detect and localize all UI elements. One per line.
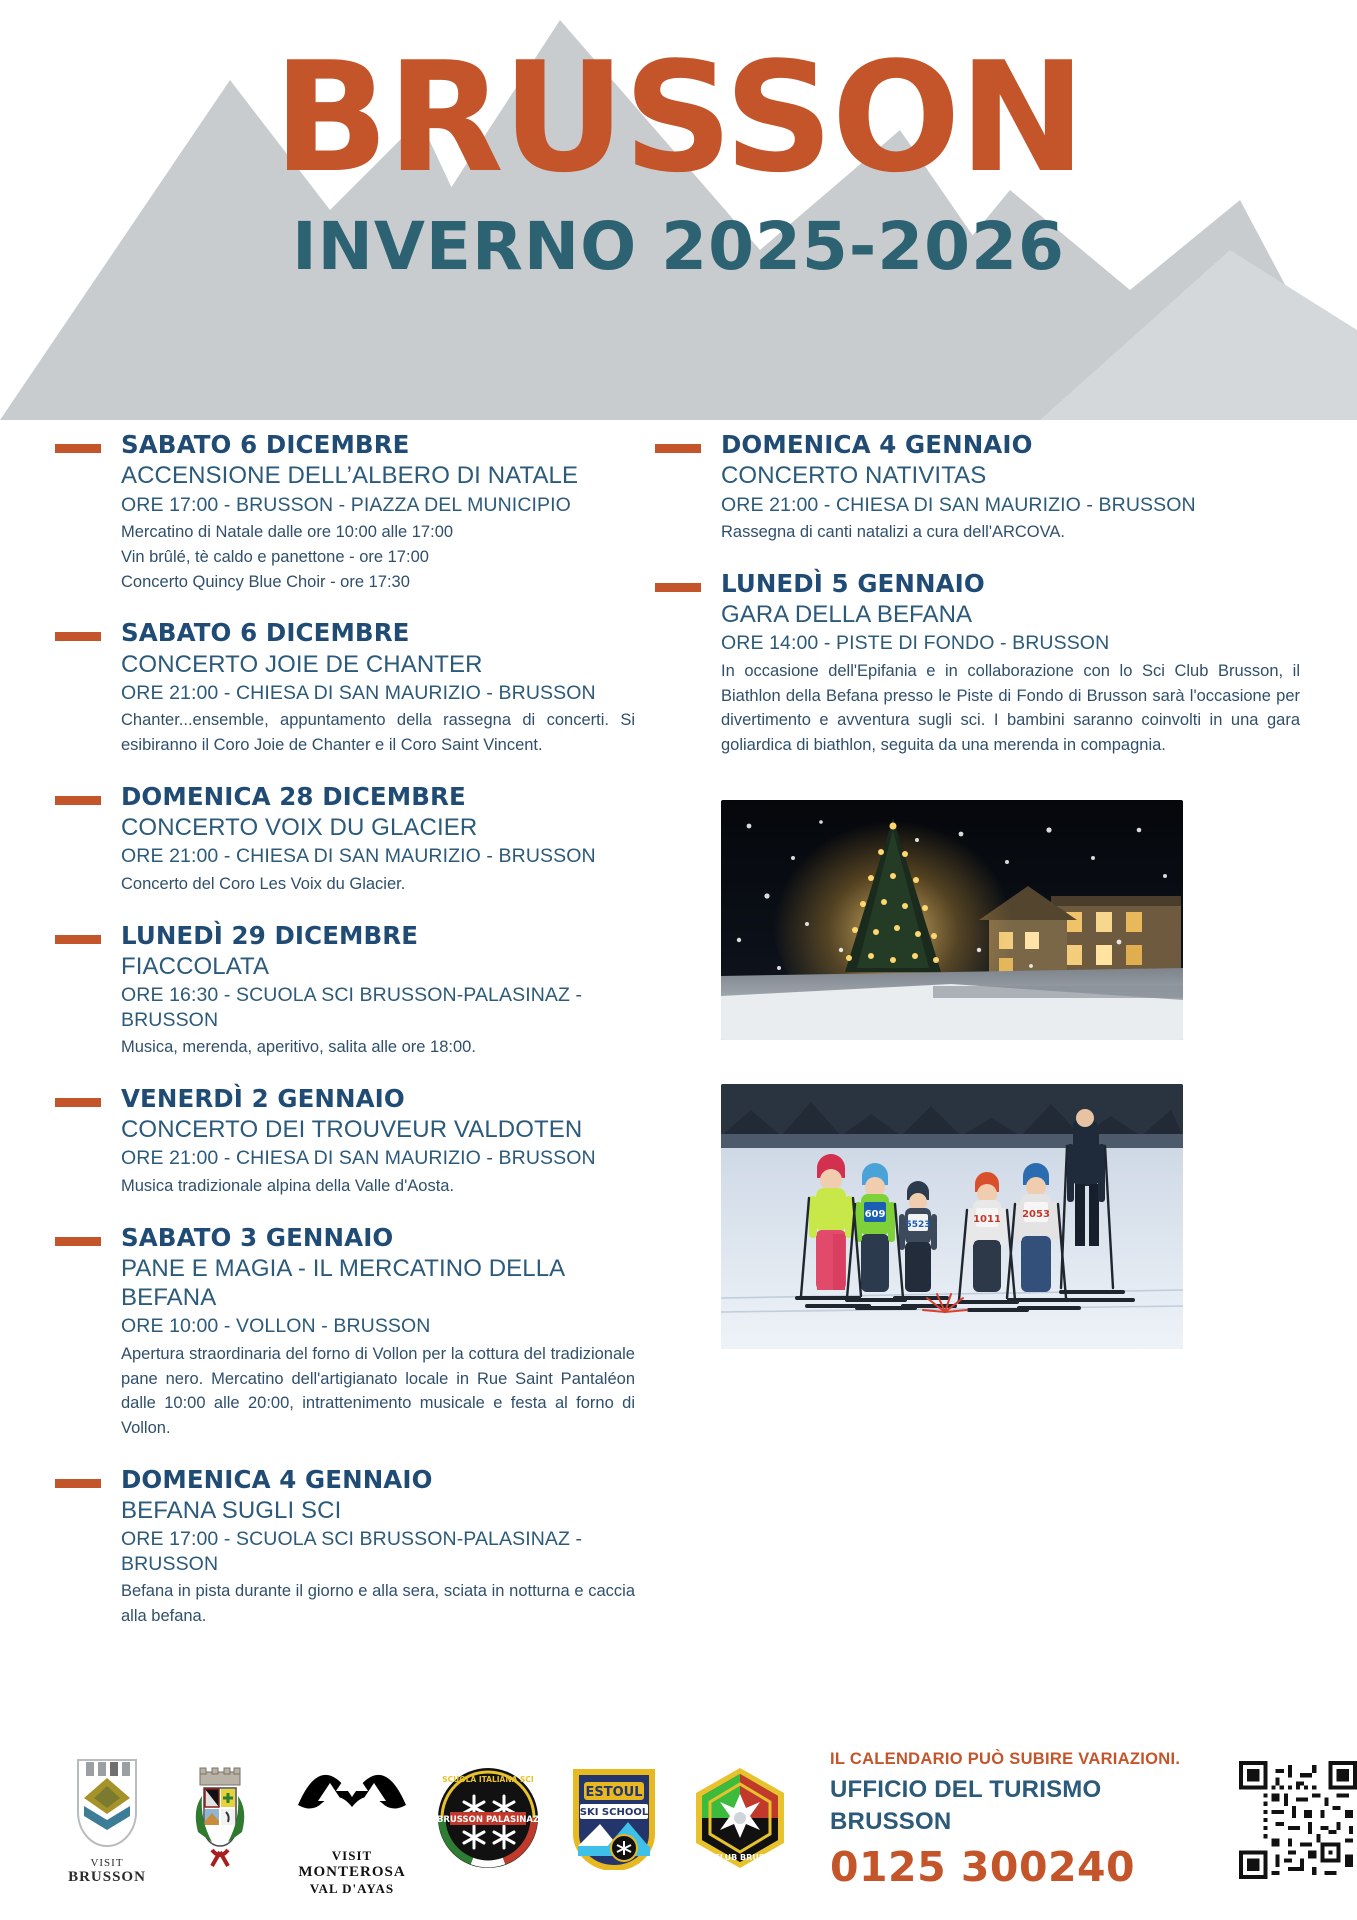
scuola-sci-band-text: BRUSSON PALASINAZ — [437, 1815, 539, 1825]
sponsor-logos: VISIT BRUSSON — [0, 1743, 792, 1897]
event-description: Chanter...ensemble, appuntamento della r… — [121, 708, 635, 758]
event-title: CONCERTO NATIVITAS — [721, 461, 1300, 490]
dash-marker-icon — [55, 632, 101, 641]
event-date: SABATO 6 DICEMBRE — [121, 430, 635, 459]
bib-number: 1011 — [973, 1214, 1001, 1225]
estoul-label: ESTOUL — [585, 1785, 642, 1800]
visit-brusson-logo-line2: BRUSSON — [68, 1869, 146, 1886]
event-description: In occasione dell'Epifania e in collabor… — [721, 659, 1300, 758]
event-item: SABATO 6 DICEMBRE ACCENSIONE DELL’ALBERO… — [55, 430, 635, 594]
event-title: BEFANA SUGLI SCI — [121, 1496, 635, 1525]
event-item: DOMENICA 4 GENNAIO CONCERTO NATIVITAS OR… — [655, 430, 1300, 545]
event-title: GARA DELLA BEFANA — [721, 600, 1300, 629]
event-title: ACCENSIONE DELL’ALBERO DI NATALE — [121, 461, 635, 490]
event-location: ORE 16:30 - SCUOLA SCI BRUSSON-PALASINAZ… — [121, 983, 635, 1032]
event-location: ORE 21:00 - CHIESA DI SAN MAURIZIO - BRU… — [721, 493, 1300, 517]
ski-school-label: SKI SCHOOL — [580, 1807, 649, 1818]
event-description: Apertura straordinaria del forno di Voll… — [121, 1342, 635, 1441]
poster-footer: VISIT BRUSSON — [0, 1720, 1357, 1920]
scuola-italiana-sci-brusson-palasinaz-logo: BRUSSON PALASINAZ SCUOLA ITALIANA SCI — [436, 1766, 540, 1875]
calendar-disclaimer: IL CALENDARIO PUÒ SUBIRE VARIAZIONI. — [830, 1749, 1199, 1770]
event-title: CONCERTO DEI TROUVEUR VALDOTEN — [121, 1115, 635, 1144]
estoul-ski-school-logo: ESTOUL SKI SCHOOL — [566, 1766, 662, 1875]
qr-code[interactable] — [1239, 1761, 1357, 1879]
sci-club-brusson-ring-text: SCI CLUB BRUSSON — [697, 1853, 784, 1862]
sci-club-brusson-logo: SCI CLUB BRUSSON — [688, 1766, 792, 1875]
event-title: FIACCOLATA — [121, 952, 635, 981]
event-item: LUNEDÌ 29 DICEMBRE FIACCOLATA ORE 16:30 … — [55, 921, 635, 1060]
bib-number: 2053 — [1022, 1209, 1050, 1220]
event-date: LUNEDÌ 29 DICEMBRE — [121, 921, 635, 950]
visit-brusson-logo-line1: VISIT — [68, 1857, 146, 1869]
event-title: CONCERTO VOIX DU GLACIER — [121, 813, 635, 842]
event-description: Concerto del Coro Les Voix du Glacier. — [121, 872, 635, 897]
event-location: ORE 14:00 - PISTE DI FONDO - BRUSSON — [721, 631, 1300, 655]
event-item: SABATO 6 DICEMBRE CONCERTO JOIE DE CHANT… — [55, 618, 635, 758]
dash-marker-icon — [55, 935, 101, 944]
poster-header: BRUSSON INVERNO 2025-2026 — [0, 0, 1357, 420]
left-column: SABATO 6 DICEMBRE ACCENSIONE DELL’ALBERO… — [0, 430, 655, 1653]
event-date: VENERDÌ 2 GENNAIO — [121, 1084, 635, 1113]
contact-block: IL CALENDARIO PUÒ SUBIRE VARIAZIONI. UFF… — [830, 1749, 1199, 1890]
page-title: BRUSSON — [273, 48, 1084, 188]
comune-di-brusson-crest-logo — [172, 1766, 268, 1875]
event-location: ORE 21:00 - CHIESA DI SAN MAURIZIO - BRU… — [121, 1146, 635, 1170]
event-item: DOMENICA 4 GENNAIO BEFANA SUGLI SCI ORE … — [55, 1465, 635, 1629]
event-location: ORE 17:00 - SCUOLA SCI BRUSSON-PALASINAZ… — [121, 1527, 635, 1576]
event-description: Musica, merenda, aperitivo, salita alle … — [121, 1035, 635, 1060]
tourism-office-phone[interactable]: 0125 300240 — [830, 1844, 1199, 1891]
event-date: SABATO 6 DICEMBRE — [121, 618, 635, 647]
children-cross-country-ski-photo: 609 5523 — [721, 1084, 1183, 1349]
event-item: LUNEDÌ 5 GENNAIO GARA DELLA BEFANA ORE 1… — [655, 569, 1300, 758]
visit-monterosa-val-dayas-logo: VISIT MONTEROSA VAL D'AYAS — [294, 1743, 410, 1897]
dash-marker-icon — [655, 444, 701, 453]
tourism-office-label: UFFICIO DEL TURISMO BRUSSON — [830, 1774, 1199, 1839]
event-item: DOMENICA 28 DICEMBRE CONCERTO VOIX DU GL… — [55, 782, 635, 897]
page-subtitle: INVERNO 2025-2026 — [292, 214, 1065, 280]
event-description: Befana in pista durante il giorno e alla… — [121, 1579, 635, 1629]
bib-number: 609 — [865, 1209, 886, 1220]
event-description: Rassegna di canti natalizi a cura dell'A… — [721, 520, 1300, 545]
event-item: VENERDÌ 2 GENNAIO CONCERTO DEI TROUVEUR … — [55, 1084, 635, 1199]
event-location: ORE 10:00 - VOLLON - BRUSSON — [121, 1314, 635, 1338]
right-column: DOMENICA 4 GENNAIO CONCERTO NATIVITAS OR… — [655, 430, 1355, 1653]
christmas-tree-night-photo — [721, 800, 1183, 1040]
event-location: ORE 17:00 - BRUSSON - PIAZZA DEL MUNICIP… — [121, 493, 635, 517]
visit-monterosa-line1: VISIT — [294, 1848, 410, 1864]
visit-monterosa-line2: MONTEROSA — [294, 1864, 410, 1881]
events-columns: SABATO 6 DICEMBRE ACCENSIONE DELL’ALBERO… — [0, 430, 1357, 1653]
dash-marker-icon — [55, 796, 101, 805]
event-date: DOMENICA 4 GENNAIO — [721, 430, 1300, 459]
dash-marker-icon — [55, 1237, 101, 1246]
dash-marker-icon — [55, 444, 101, 453]
bib-number: 5523 — [905, 1220, 930, 1230]
dash-marker-icon — [655, 583, 701, 592]
event-description: Mercatino di Natale dalle ore 10:00 alle… — [121, 520, 635, 594]
event-date: SABATO 3 GENNAIO — [121, 1223, 635, 1252]
dash-marker-icon — [55, 1479, 101, 1488]
event-date: LUNEDÌ 5 GENNAIO — [721, 569, 1300, 598]
event-location: ORE 21:00 - CHIESA DI SAN MAURIZIO - BRU… — [121, 844, 635, 868]
scuola-sci-top-text: SCUOLA ITALIANA SCI — [442, 1775, 534, 1784]
visit-brusson-logo: VISIT BRUSSON — [68, 1754, 146, 1886]
poster-root: BRUSSON INVERNO 2025-2026 SABATO 6 DICEM… — [0, 0, 1357, 1920]
event-description: Musica tradizionale alpina della Valle d… — [121, 1174, 635, 1199]
event-title: CONCERTO JOIE DE CHANTER — [121, 650, 635, 679]
dash-marker-icon — [55, 1098, 101, 1107]
event-title: PANE E MAGIA - IL MERCATINO DELLA BEFANA — [121, 1254, 635, 1313]
event-item: SABATO 3 GENNAIO PANE E MAGIA - IL MERCA… — [55, 1223, 635, 1441]
event-date: DOMENICA 4 GENNAIO — [121, 1465, 635, 1494]
event-date: DOMENICA 28 DICEMBRE — [121, 782, 635, 811]
visit-monterosa-line3: VAL D'AYAS — [294, 1881, 410, 1897]
event-location: ORE 21:00 - CHIESA DI SAN MAURIZIO - BRU… — [121, 681, 635, 705]
